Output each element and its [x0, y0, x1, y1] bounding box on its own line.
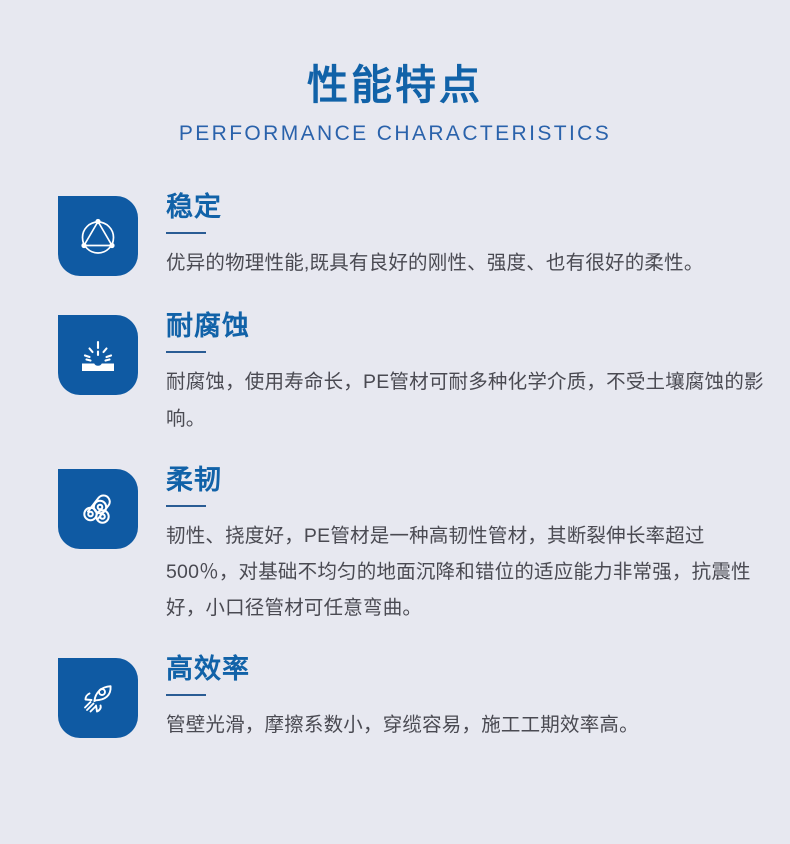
feature-body: 柔韧 韧性、挠度好，PE管材是一种高韧性管材，其断裂伸长率超过500％，对基础不… — [138, 463, 768, 626]
feature-description: 韧性、挠度好，PE管材是一种高韧性管材，其断裂伸长率超过500％，对基础不均匀的… — [166, 518, 768, 626]
feature-icon-tile — [58, 315, 138, 395]
feature-icon-tile — [58, 196, 138, 276]
feature-rule — [166, 694, 206, 696]
feature-heading: 稳定 — [166, 192, 768, 223]
feature-description: 管壁光滑，摩擦系数小，穿缆容易，施工工期效率高。 — [166, 707, 768, 743]
performance-characteristics-page: 性能特点 PERFORMANCE CHARACTERISTICS 稳定 — [0, 0, 790, 844]
feature-item-corrosion-resistance: 耐腐蚀 耐腐蚀，使用寿命长，PE管材可耐多种化学介质，不受土壤腐蚀的影响。 — [58, 309, 768, 436]
feature-heading: 高效率 — [166, 654, 768, 685]
triangle-in-circle-icon — [75, 213, 121, 259]
feature-icon-tile — [58, 469, 138, 549]
coiled-pipes-icon — [75, 486, 121, 532]
feature-description: 耐腐蚀，使用寿命长，PE管材可耐多种化学介质，不受土壤腐蚀的影响。 — [166, 364, 768, 436]
feature-rule — [166, 351, 206, 353]
feature-heading: 耐腐蚀 — [166, 311, 768, 342]
feature-list: 稳定 优异的物理性能,既具有良好的刚性、强度、也有很好的柔性。 — [0, 190, 790, 743]
feature-item-flexibility: 柔韧 韧性、挠度好，PE管材是一种高韧性管材，其断裂伸长率超过500％，对基础不… — [58, 463, 768, 626]
feature-heading: 柔韧 — [166, 465, 768, 496]
feature-body: 高效率 管壁光滑，摩擦系数小，穿缆容易，施工工期效率高。 — [138, 652, 768, 743]
page-subtitle: PERFORMANCE CHARACTERISTICS — [0, 121, 790, 146]
feature-rule — [166, 232, 206, 234]
rocket-icon — [75, 675, 121, 721]
feature-rule — [166, 505, 206, 507]
feature-item-efficiency: 高效率 管壁光滑，摩擦系数小，穿缆容易，施工工期效率高。 — [58, 652, 768, 743]
page-header: 性能特点 PERFORMANCE CHARACTERISTICS — [0, 0, 790, 146]
corrosion-splash-icon — [74, 332, 122, 378]
feature-description: 优异的物理性能,既具有良好的刚性、强度、也有很好的柔性。 — [166, 245, 768, 281]
feature-body: 稳定 优异的物理性能,既具有良好的刚性、强度、也有很好的柔性。 — [138, 190, 768, 281]
feature-icon-tile — [58, 658, 138, 738]
feature-body: 耐腐蚀 耐腐蚀，使用寿命长，PE管材可耐多种化学介质，不受土壤腐蚀的影响。 — [138, 309, 768, 436]
feature-item-stable: 稳定 优异的物理性能,既具有良好的刚性、强度、也有很好的柔性。 — [58, 190, 768, 281]
page-title: 性能特点 — [0, 62, 790, 109]
